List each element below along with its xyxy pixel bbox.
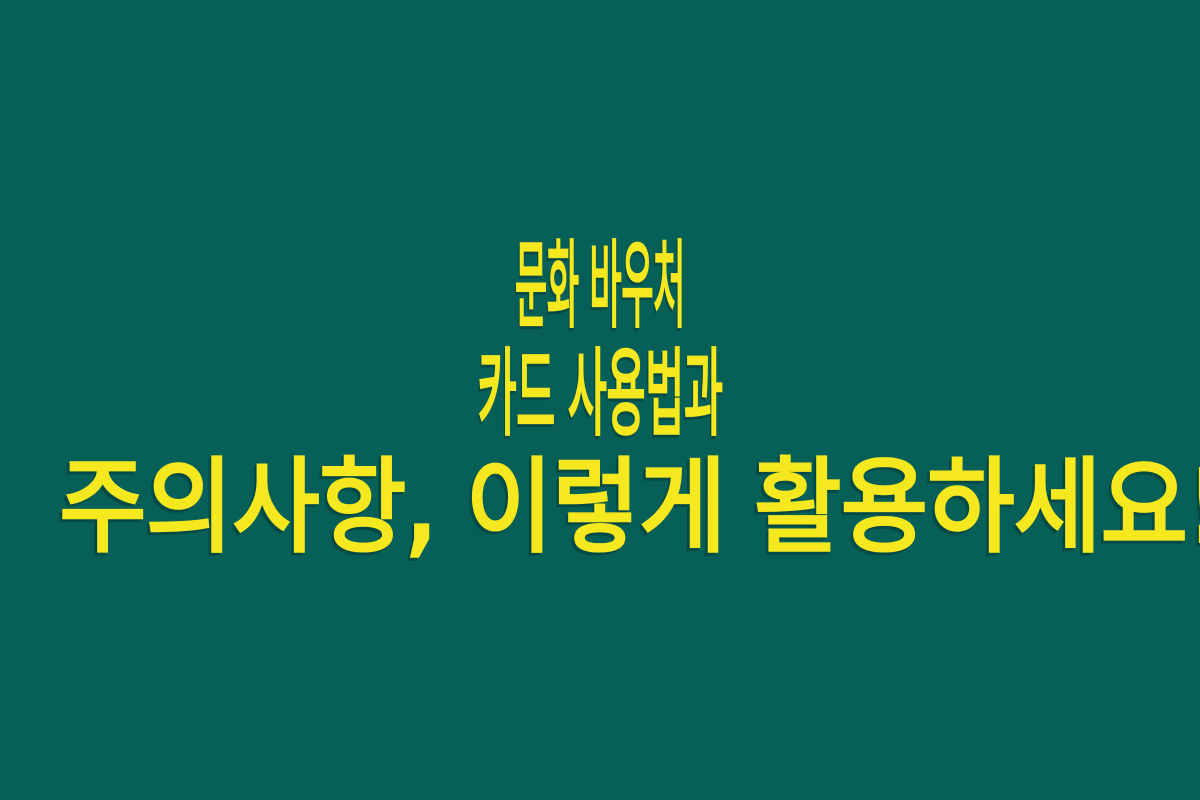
headline-line-2: 카드 사용법과 bbox=[338, 346, 862, 444]
promo-banner: 문화 바우처 카드 사용법과 주의사항, 이렇게 활용하세요! bbox=[0, 0, 1200, 800]
headline-line-1: 문화 바우처 bbox=[384, 238, 816, 336]
headline-line-3: 주의사항, 이렇게 활용하세요! bbox=[59, 454, 1141, 560]
headline-block: 문화 바우처 카드 사용법과 주의사항, 이렇게 활용하세요! bbox=[0, 238, 1200, 560]
